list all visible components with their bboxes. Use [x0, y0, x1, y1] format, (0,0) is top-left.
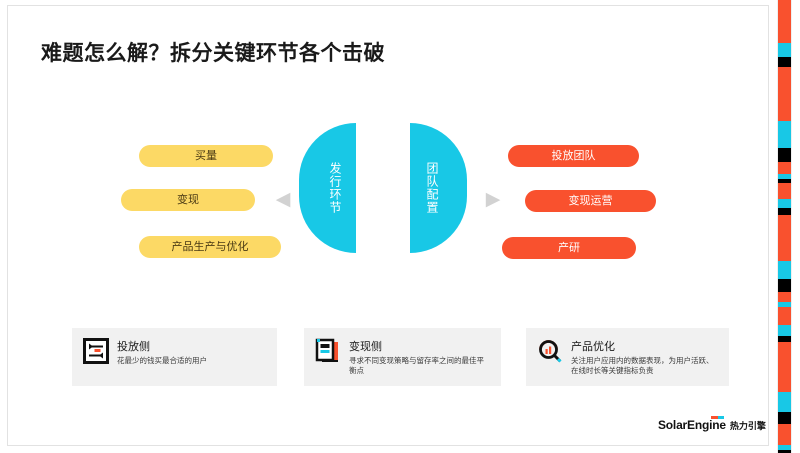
color-strip-segment-3: [778, 67, 791, 121]
color-strip-segment-11: [778, 208, 791, 215]
brand-accent-bar: [711, 416, 724, 419]
brand-name-cn: 热力引擎: [730, 419, 766, 432]
color-strip-segment-4: [778, 121, 791, 148]
color-strip-segment-22: [778, 412, 791, 423]
color-strip-segment-2: [778, 57, 791, 68]
info-card-2-text: 产品优化 关注用户应用内的数据表现，为用户活跃、在线时长等关键指标负责: [571, 337, 719, 376]
stacked-documents-icon: [315, 338, 341, 364]
color-strip-segment-5: [778, 148, 791, 162]
info-card-0-text: 投放侧 花最少的钱买最合适的用户: [117, 337, 267, 366]
color-strip-segment-12: [778, 215, 791, 260]
pill-right-1[interactable]: 变现运营: [525, 190, 656, 212]
brand-logo: SolarEngine 热力引擎: [658, 418, 766, 432]
half-circle-right-label: 团队配置: [424, 162, 439, 214]
info-card-0[interactable]: 投放侧 花最少的钱买最合适的用户: [72, 328, 277, 386]
info-card-2-title: 产品优化: [571, 341, 615, 353]
slide-canvas: 难题怎么解？拆分关键环节各个击破 买量 变现 产品生产与优化 ◀ ▶ 发行环节 …: [7, 5, 769, 446]
info-card-1-title: 变现侧: [349, 341, 382, 353]
info-card-1-text: 变现侧 寻求不同变现策略与留存率之间的最佳平衡点: [349, 337, 491, 376]
arrow-left-icon: ◀: [274, 191, 292, 209]
pill-right-0[interactable]: 投放团队: [508, 145, 639, 167]
color-strip-segment-18: [778, 325, 791, 336]
half-circle-right: 团队配置: [410, 123, 467, 253]
magnifier-chart-icon: [537, 338, 563, 364]
color-strip-segment-20: [778, 342, 791, 391]
color-strip-segment-17: [778, 307, 791, 325]
color-strip-segment-6: [778, 162, 791, 173]
color-strip-segment-15: [778, 292, 791, 302]
brand-name: SolarEngine: [658, 418, 726, 432]
pill-left-0[interactable]: 买量: [139, 145, 273, 167]
color-strip-segment-1: [778, 43, 791, 57]
info-card-1-desc: 寻求不同变现策略与留存率之间的最佳平衡点: [349, 356, 491, 376]
color-strip-segment-13: [778, 261, 791, 280]
half-circle-left-label: 发行环节: [327, 162, 342, 214]
color-strip-segment-21: [778, 392, 791, 412]
info-card-2-desc: 关注用户应用内的数据表现，为用户活跃、在线时长等关键指标负责: [571, 356, 719, 376]
color-strip-segment-0: [778, 0, 791, 43]
brand-name-text: SolarEngine: [658, 418, 726, 432]
pill-left-1[interactable]: 变现: [121, 189, 255, 211]
pill-left-2[interactable]: 产品生产与优化: [139, 236, 281, 258]
color-strip-segment-23: [778, 424, 791, 445]
half-circle-left: 发行环节: [299, 123, 356, 253]
page-title: 难题怎么解？拆分关键环节各个击破: [41, 37, 385, 67]
color-strip-segment-9: [778, 183, 791, 199]
color-strip: [777, 0, 792, 453]
sliders-icon: [83, 338, 109, 364]
color-strip-segment-14: [778, 279, 791, 292]
color-strip-segment-10: [778, 199, 791, 208]
pill-right-2[interactable]: 产研: [502, 237, 636, 259]
info-card-0-desc: 花最少的钱买最合适的用户: [117, 356, 267, 366]
arrow-right-icon: ▶: [484, 191, 502, 209]
info-card-2[interactable]: 产品优化 关注用户应用内的数据表现，为用户活跃、在线时长等关键指标负责: [526, 328, 729, 386]
info-card-1[interactable]: 变现侧 寻求不同变现策略与留存率之间的最佳平衡点: [304, 328, 501, 386]
info-card-0-title: 投放侧: [117, 341, 150, 353]
